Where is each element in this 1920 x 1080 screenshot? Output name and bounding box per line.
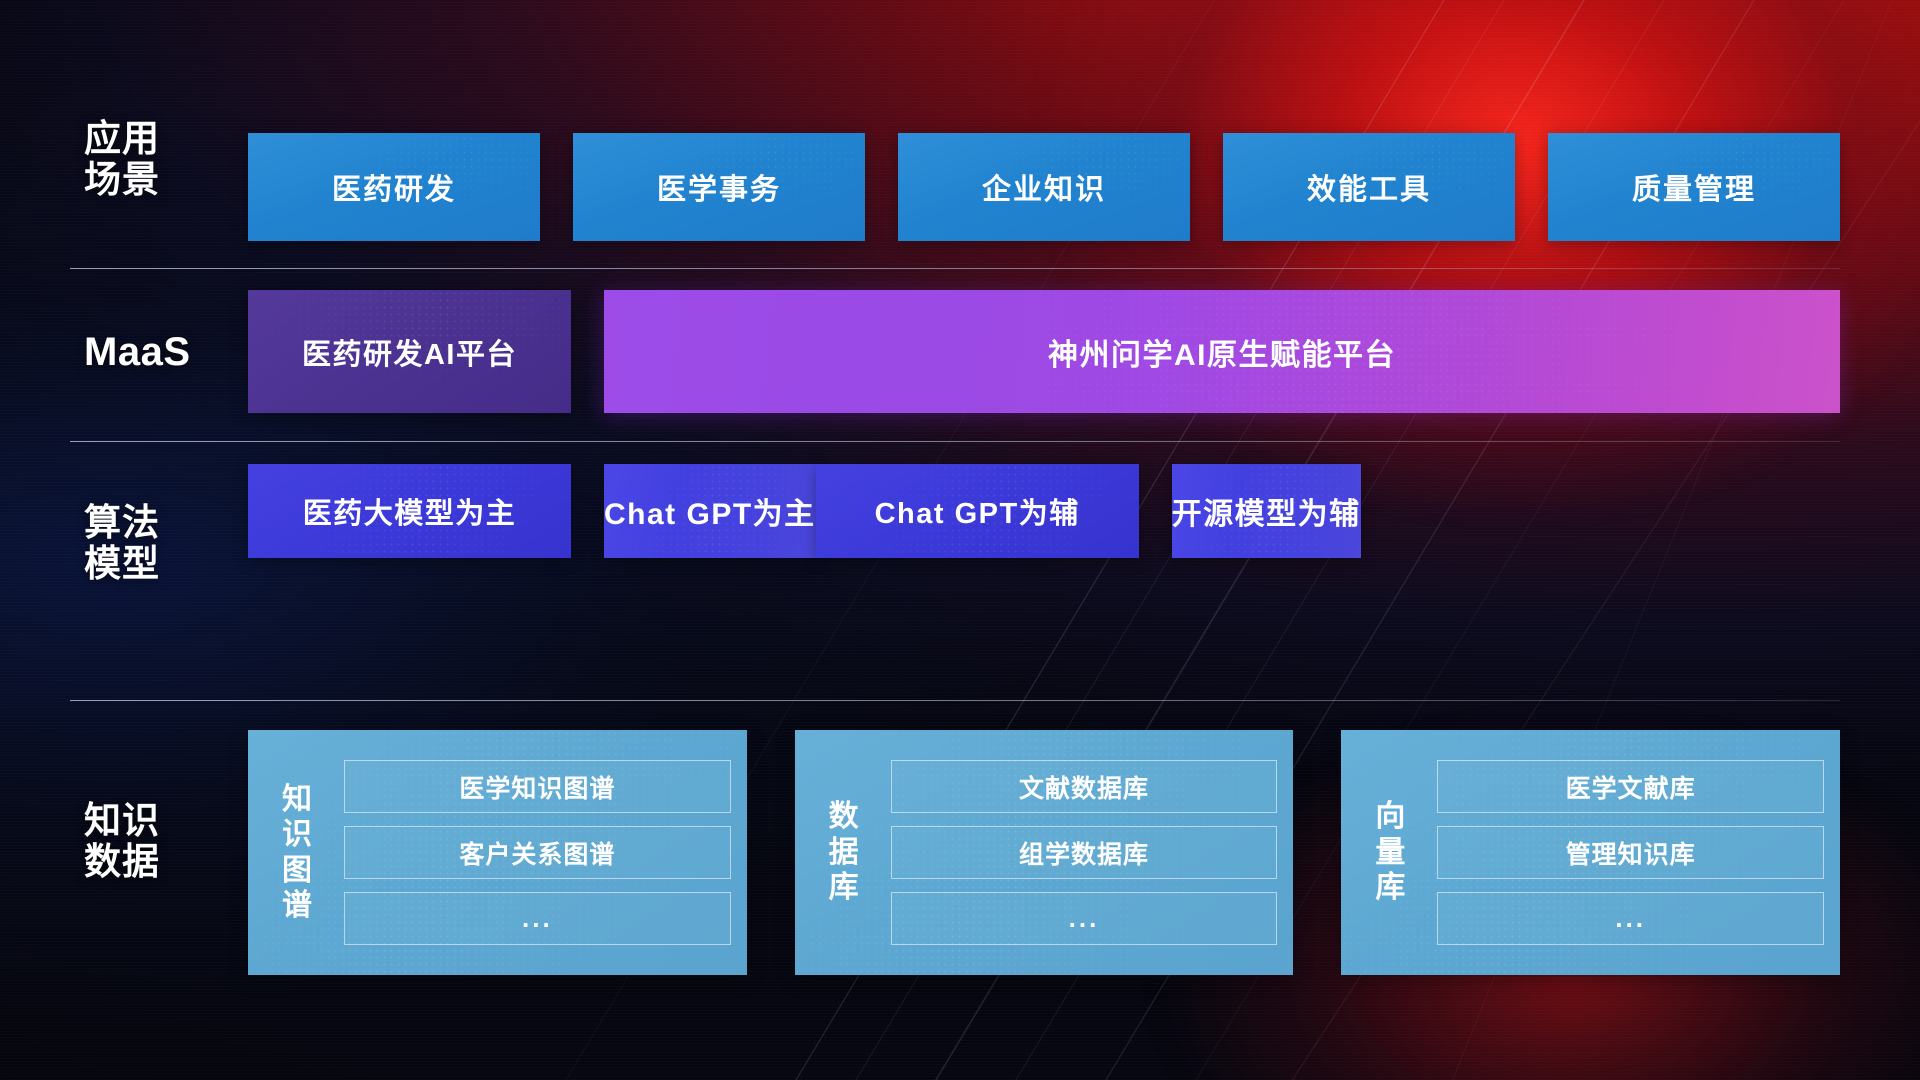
knowledge-panel-items: 文献数据库 组学数据库 ... [873,746,1278,959]
divider-maas-algorithm [70,441,1840,442]
algo-box-chatgpt-secondary[interactable]: Chat GPT为辅 [816,464,1139,558]
knowledge-item-label: 医学知识图谱 [459,769,615,805]
row-label-knowledge-data: 知识数据 [84,800,234,883]
algo-box-chatgpt-primary[interactable]: Chat GPT为主 [604,464,816,558]
maas-box-shenzhou-wenxue-platform[interactable]: 神州问学AI原生赋能平台 [604,290,1840,413]
algo-box-label: 医药大模型为主 [303,490,517,532]
knowledge-panel-title: 数据库 [815,746,873,959]
knowledge-panel-knowledge-graph[interactable]: 知识图谱 医学知识图谱 客户关系图谱 ... [248,730,747,975]
app-box-label: 效能工具 [1307,166,1431,208]
row-label-algorithm-model: 算法模型 [84,502,234,585]
knowledge-data-row: 知识图谱 医学知识图谱 客户关系图谱 ... 数据库 [248,730,1840,975]
app-box-efficiency-tools[interactable]: 效能工具 [1223,133,1515,241]
knowledge-item-more[interactable]: ... [1437,892,1824,945]
maas-box-label: 医药研发AI平台 [302,331,517,373]
knowledge-panel-database[interactable]: 数据库 文献数据库 组学数据库 ... [795,730,1294,975]
app-box-label: 医药研发 [332,166,456,208]
app-box-enterprise-knowledge[interactable]: 企业知识 [898,133,1190,241]
app-box-label: 企业知识 [982,166,1106,208]
knowledge-item[interactable]: 医学知识图谱 [344,760,731,813]
knowledge-item[interactable]: 管理知识库 [1437,826,1824,879]
app-box-label: 医学事务 [657,166,781,208]
knowledge-panel-title: 知识图谱 [268,746,326,959]
row-label-maas: MaaS [84,330,234,375]
algorithm-model-row: 医药大模型为主 Chat GPT为主 Chat GPT为辅 开源模型为辅 [248,464,1840,580]
algo-box-label: Chat GPT为辅 [875,490,1080,532]
app-box-medicine-rd[interactable]: 医药研发 [248,133,540,241]
knowledge-item[interactable]: 组学数据库 [891,826,1278,879]
knowledge-item[interactable]: 文献数据库 [891,760,1278,813]
app-box-quality-management[interactable]: 质量管理 [1548,133,1840,241]
app-box-label: 质量管理 [1632,166,1756,208]
knowledge-item[interactable]: 客户关系图谱 [344,826,731,879]
divider-applications-maas [70,268,1840,269]
knowledge-item-label: ... [1069,903,1100,934]
algorithm-line-primary: 医药大模型为主 Chat GPT为主 [248,464,816,558]
knowledge-item-label: ... [1615,903,1646,934]
algo-box-label: Chat GPT为主 [604,489,816,533]
knowledge-panel-items: 医学知识图谱 客户关系图谱 ... [326,746,731,959]
knowledge-item-more[interactable]: ... [891,892,1278,945]
knowledge-panel-title: 向量库 [1361,746,1419,959]
knowledge-item-more[interactable]: ... [344,892,731,945]
application-scenarios-row: 医药研发 医学事务 企业知识 效能工具 质量管理 [248,133,1840,241]
knowledge-panel-items: 医学文献库 管理知识库 ... [1419,746,1824,959]
maas-box-pharma-ai-platform[interactable]: 医药研发AI平台 [248,290,571,413]
divider-algorithm-knowledge [70,700,1840,701]
knowledge-item-label: 文献数据库 [1019,769,1149,805]
knowledge-item[interactable]: 医学文献库 [1437,760,1824,813]
slide-canvas: 应用场景 医药研发 医学事务 企业知识 效能工具 质量管理 MaaS 医药研发A… [0,0,1920,1080]
app-box-medical-affairs[interactable]: 医学事务 [573,133,865,241]
knowledge-item-label: 客户关系图谱 [459,835,615,871]
knowledge-panel-vector-store[interactable]: 向量库 医学文献库 管理知识库 ... [1341,730,1840,975]
knowledge-item-label: 医学文献库 [1566,769,1696,805]
algo-box-opensource-secondary[interactable]: 开源模型为辅 [1172,464,1361,558]
algorithm-line-secondary: Chat GPT为辅 开源模型为辅 [816,464,1361,558]
knowledge-item-label: ... [522,903,553,934]
knowledge-item-label: 管理知识库 [1566,835,1696,871]
row-label-applications: 应用场景 [84,118,234,201]
maas-box-label: 神州问学AI原生赋能平台 [1048,330,1396,374]
maas-row: 医药研发AI平台 神州问学AI原生赋能平台 [248,290,1840,413]
algo-box-label: 开源模型为辅 [1172,489,1361,533]
algo-box-pharma-llm-primary[interactable]: 医药大模型为主 [248,464,571,558]
knowledge-item-label: 组学数据库 [1019,835,1149,871]
architecture-diagram: 应用场景 医药研发 医学事务 企业知识 效能工具 质量管理 MaaS 医药研发A… [0,0,1920,1080]
